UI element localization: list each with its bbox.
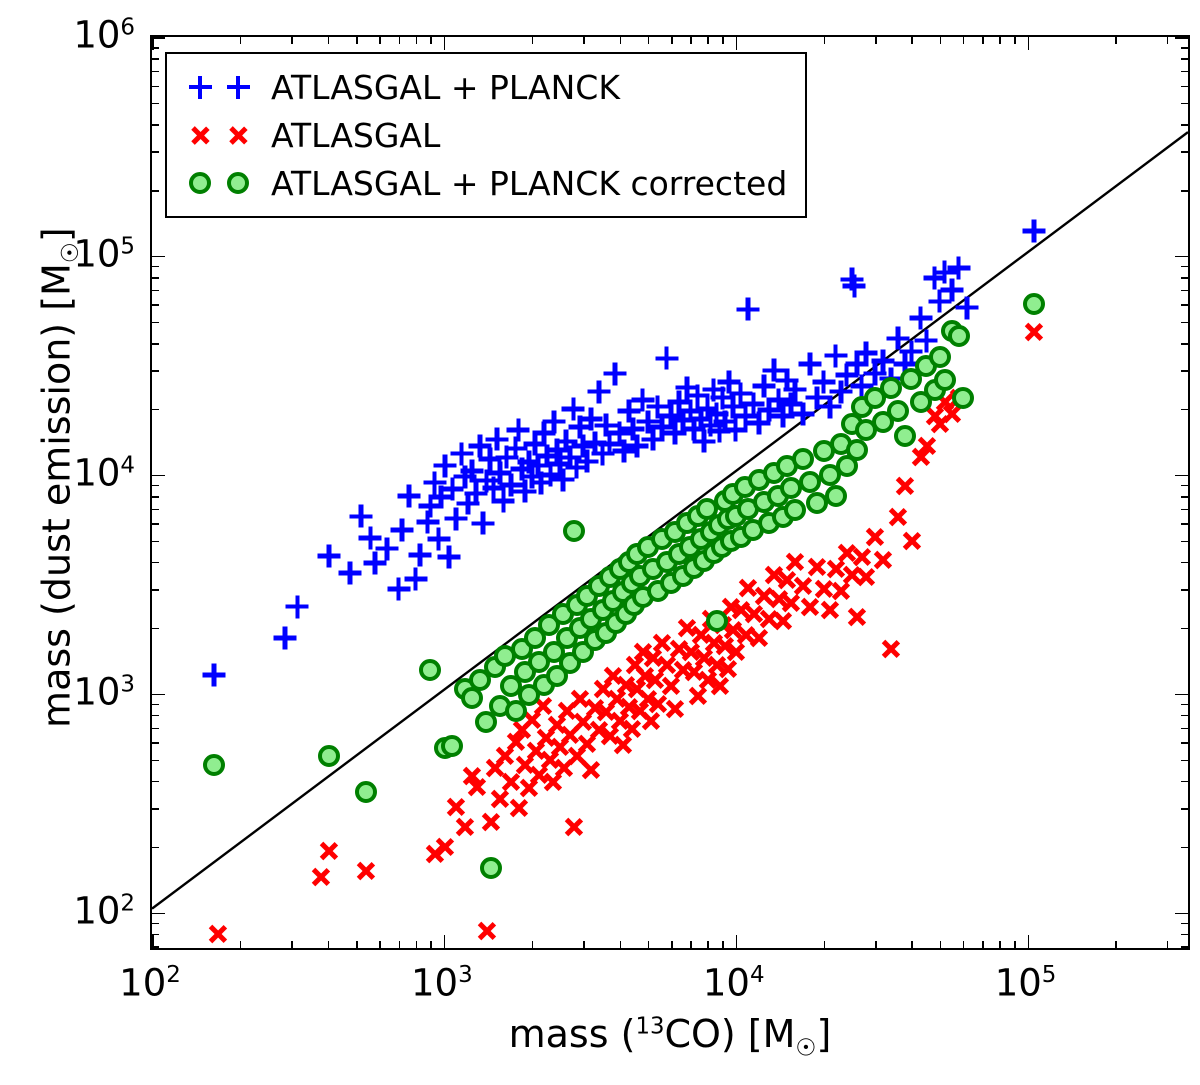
data-point [703,633,724,654]
legend-marker-plus [181,70,219,104]
data-point [807,556,828,577]
data-point [699,414,722,437]
data-point [536,728,557,749]
data-point [573,712,594,733]
minor-tick [583,37,585,44]
data-point [533,674,555,696]
data-point [725,641,746,662]
minor-tick [1181,562,1188,564]
data-point [784,378,807,401]
data-point [484,656,506,678]
data-point [577,733,598,754]
minor-tick [1181,946,1188,948]
data-point [706,610,728,632]
data-point [441,478,464,501]
data-point [928,290,951,313]
data-point [598,433,621,456]
data-point [893,353,916,376]
minor-tick [824,37,826,44]
data-point [722,483,744,505]
data-point [800,596,821,617]
data-point [461,687,483,709]
minor-tick [722,941,724,948]
data-point [851,547,872,568]
minor-tick [999,37,1001,44]
data-point [712,615,733,636]
data-point [599,726,620,747]
minor-tick [1181,715,1188,717]
data-point [552,603,574,625]
data-point [630,701,651,722]
data-point [518,684,540,706]
data-point [720,530,742,552]
data-point [792,448,814,470]
data-point [711,386,734,409]
data-point [363,552,386,575]
data-point [311,867,332,888]
data-point [872,411,894,433]
data-point [559,724,580,745]
data-point [1023,293,1045,315]
data-point [941,403,962,424]
data-point [595,414,618,437]
data-point [863,362,886,385]
major-tick [1175,256,1188,258]
data-point [202,663,225,686]
data-point [934,391,955,412]
data-point [588,720,609,741]
data-point [599,566,621,588]
data-point [546,714,567,735]
minor-tick [824,941,826,948]
minor-tick [152,742,159,744]
data-point [507,419,530,442]
data-point [864,526,885,547]
minor-tick [1181,322,1188,324]
data-point [651,528,673,550]
data-point [437,546,460,569]
data-point [656,655,677,676]
data-point [485,428,508,451]
data-point [729,382,752,405]
data-point [714,490,736,512]
minor-tick [152,277,159,279]
data-point [584,629,606,651]
data-point [621,718,642,739]
data-point [563,817,584,838]
data-point [469,669,491,691]
minor-tick [1181,86,1188,88]
data-point [592,599,614,621]
data-point [836,455,858,477]
data-point [752,374,775,397]
x-tick-label: 103 [411,964,473,1001]
minor-tick [1181,71,1188,73]
data-point [424,844,445,865]
data-point [709,676,730,697]
data-point [454,678,476,700]
plot-area: ATLASGAL + PLANCK ATLASGAL ATLASGAL + PL… [150,35,1190,950]
data-point [934,369,956,391]
data-point [799,471,821,493]
data-point [825,559,846,580]
data-point [706,655,727,676]
data-point [812,371,835,394]
data-point [602,590,624,612]
data-point [519,778,540,799]
minor-tick [1181,509,1188,511]
minor-tick [1181,290,1188,292]
minor-tick [152,304,159,306]
data-point [475,469,498,492]
data-point [655,347,678,370]
minor-tick [152,808,159,810]
minor-tick [416,941,418,948]
legend-item: ATLASGAL + PLANCK corrected [181,159,787,207]
minor-tick [152,190,159,192]
minor-tick [1115,941,1117,948]
x-tick-label: 104 [703,964,765,1001]
minor-tick [1181,742,1188,744]
data-point [549,737,570,758]
data-point [615,603,637,625]
data-point [591,442,614,465]
minor-tick [152,266,159,268]
minor-tick [152,409,159,411]
minor-tick [152,781,159,783]
data-point [551,468,574,491]
data-point [660,572,682,594]
data-point [855,341,878,364]
data-point [468,435,491,458]
data-point [687,685,708,706]
minor-tick [1181,277,1188,279]
data-point [940,278,963,301]
data-point [563,520,585,542]
data-point [349,505,372,528]
data-point [404,567,427,590]
data-point [482,476,505,499]
data-point [894,475,915,496]
data-point [835,364,858,387]
data-point [587,380,610,403]
minor-tick [1181,523,1188,525]
data-point [880,638,901,659]
minor-tick [1181,923,1188,925]
data-point [554,430,577,453]
data-point [785,551,806,572]
minor-tick [152,628,159,630]
minor-tick [152,485,159,487]
data-point [569,416,592,439]
data-point [603,362,626,385]
data-point [539,463,562,486]
major-tick [1175,475,1188,477]
data-point [722,395,745,418]
data-point [708,514,730,536]
data-point [888,507,909,528]
minor-tick [1181,628,1188,630]
data-point [617,400,640,423]
data-point [714,410,737,433]
data-point [776,369,799,392]
data-point [580,608,602,630]
data-point [736,298,759,321]
data-point [618,696,639,717]
data-point [553,758,574,779]
data-point [697,670,718,691]
minor-tick [1181,496,1188,498]
data-point [543,771,564,792]
minor-tick [1014,37,1016,44]
data-point [679,536,701,558]
minor-tick [707,941,709,948]
minor-tick [152,523,159,525]
data-point [880,377,902,399]
data-point [274,626,297,649]
data-point [319,841,340,862]
data-point [355,860,376,881]
minor-tick [911,37,913,44]
data-point [640,710,661,731]
data-point [489,695,511,717]
data-point [207,923,228,944]
major-tick [152,913,165,915]
data-point [536,444,559,467]
data-point [776,455,798,477]
data-point [647,693,668,714]
data-point [445,796,466,817]
data-point [529,471,552,494]
data-point [675,376,698,399]
minor-tick [379,941,381,948]
data-point [762,359,785,382]
data-point [566,594,588,616]
major-tick [1175,913,1188,915]
minor-tick [152,496,159,498]
data-point [702,378,725,401]
data-point [495,446,518,469]
data-point [500,473,523,496]
minor-tick [152,370,159,372]
data-point [504,437,527,460]
data-point [665,699,686,720]
data-point [843,274,866,297]
data-point [683,417,706,440]
data-point [792,576,813,597]
minor-tick [152,58,159,60]
data-point [683,557,705,579]
minor-tick [152,847,159,849]
data-point [584,431,607,454]
data-point [471,512,494,535]
data-point [569,617,591,639]
minor-tick [240,941,242,948]
data-point [545,438,568,461]
data-point [772,506,794,528]
data-point [757,398,780,421]
data-point [924,406,945,427]
data-point [693,550,715,572]
data-point [510,458,533,481]
data-point [542,410,565,433]
data-point [494,745,515,766]
data-point [355,781,377,803]
data-point [645,670,666,691]
data-point [856,567,877,588]
data-point [813,440,835,462]
data-point [559,652,581,674]
major-tick [152,694,165,696]
data-point [479,448,502,471]
minor-tick [430,941,432,948]
data-point [806,386,829,409]
minor-tick [152,562,159,564]
data-point [387,578,410,601]
data-point [523,433,546,456]
minor-tick [379,37,381,44]
data-point [500,675,522,697]
minor-tick [430,37,432,44]
data-point [462,766,483,787]
data-point [830,433,852,455]
data-point [651,416,674,439]
data-point [724,419,747,442]
data-point [900,368,922,390]
minor-tick [1167,37,1169,44]
data-point [915,355,937,377]
major-tick [152,37,165,39]
minor-tick [1181,47,1188,49]
data-point [872,350,895,373]
data-point [508,798,529,819]
data-point [873,549,894,570]
minor-tick [671,941,673,948]
minor-tick [1181,934,1188,936]
legend-item: ATLASGAL + PLANCK [181,63,787,111]
major-tick [152,475,165,477]
data-point [846,439,868,461]
data-point [526,454,549,477]
data-point [475,711,497,733]
data-point [864,387,886,409]
data-point [819,464,841,486]
data-point [799,353,822,376]
minor-tick [690,37,692,44]
data-point [742,393,765,416]
data-point [391,518,414,541]
data-point [767,388,790,411]
legend-marker-circle [181,166,219,200]
data-point [763,564,784,585]
data-point [624,655,645,676]
legend-label-atlasgal-planck-corrected: ATLASGAL + PLANCK corrected [271,167,787,200]
minor-tick [399,37,401,44]
data-point [900,340,923,363]
data-point [612,581,634,603]
data-point [700,521,722,543]
data-point [318,745,340,767]
data-point [642,648,663,669]
data-point [673,660,694,681]
minor-tick [1181,190,1188,192]
data-point [514,480,537,503]
data-point [836,542,857,563]
data-point [763,462,785,484]
data-point [631,388,654,411]
data-point [851,396,873,418]
data-point [318,545,341,568]
minor-tick [875,941,877,948]
minor-tick [963,941,965,948]
data-point [576,450,599,473]
minor-tick [1181,704,1188,706]
minor-tick [1181,124,1188,126]
data-point [680,641,701,662]
data-point [1023,321,1044,342]
data-point [565,456,588,479]
data-point [672,565,694,587]
data-point [841,564,862,585]
data-point [596,702,617,723]
minor-tick [152,760,159,762]
data-point [686,384,709,407]
data-point [505,700,527,722]
data-point [609,710,630,731]
minor-tick [940,37,942,44]
data-point [679,400,702,423]
data-point [748,469,770,491]
data-point [490,789,511,810]
data-point [476,921,497,942]
data-point [901,530,922,551]
data-point [642,558,664,580]
data-point [753,585,774,606]
major-tick [736,37,738,50]
data-point [646,395,669,418]
minor-tick [1181,728,1188,730]
data-point [924,379,946,401]
data-point [635,666,656,687]
data-point [626,435,649,458]
minor-tick [152,86,159,88]
data-point [562,397,585,420]
data-point [947,257,970,280]
data-point [570,688,591,709]
major-tick [444,37,446,50]
data-point [850,374,873,397]
legend-item: ATLASGAL [181,111,787,159]
data-point [705,402,728,425]
data-point [879,367,902,390]
minor-tick [1181,304,1188,306]
minor-tick [240,37,242,44]
data-point [485,758,506,779]
x-tick-label: 105 [995,964,1057,1001]
data-point [521,709,542,730]
data-point [690,625,711,646]
data-point [627,678,648,699]
minor-tick [1181,370,1188,372]
data-point [622,417,645,440]
minor-tick [152,946,159,948]
minor-tick [152,728,159,730]
legend-label-atlasgal: ATLASGAL [271,119,440,152]
data-point [566,745,587,766]
legend-marker-plus [219,70,257,104]
data-point [693,430,716,453]
minor-tick [291,941,293,948]
